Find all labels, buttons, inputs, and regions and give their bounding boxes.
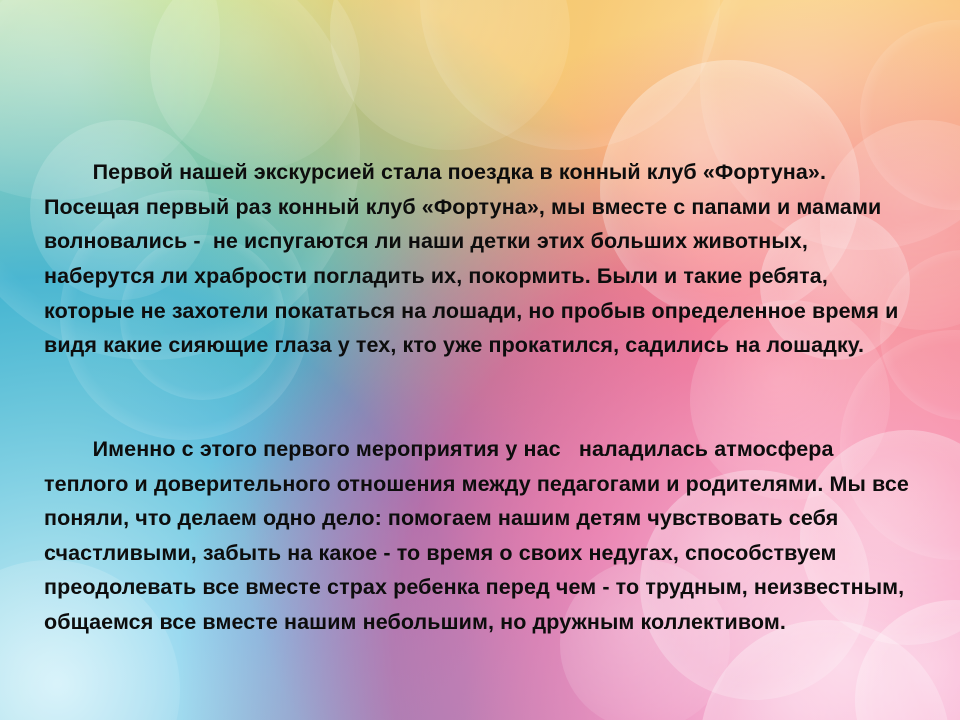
presentation-slide: Первой нашей экскурсией стала поездка в … xyxy=(0,0,960,720)
slide-body-text: Первой нашей экскурсией стала поездка в … xyxy=(44,86,916,709)
paragraph-first-excursion: Первой нашей экскурсией стала поездка в … xyxy=(44,155,916,363)
paragraph-atmosphere: Именно с этого первого мероприятия у нас… xyxy=(44,432,916,640)
